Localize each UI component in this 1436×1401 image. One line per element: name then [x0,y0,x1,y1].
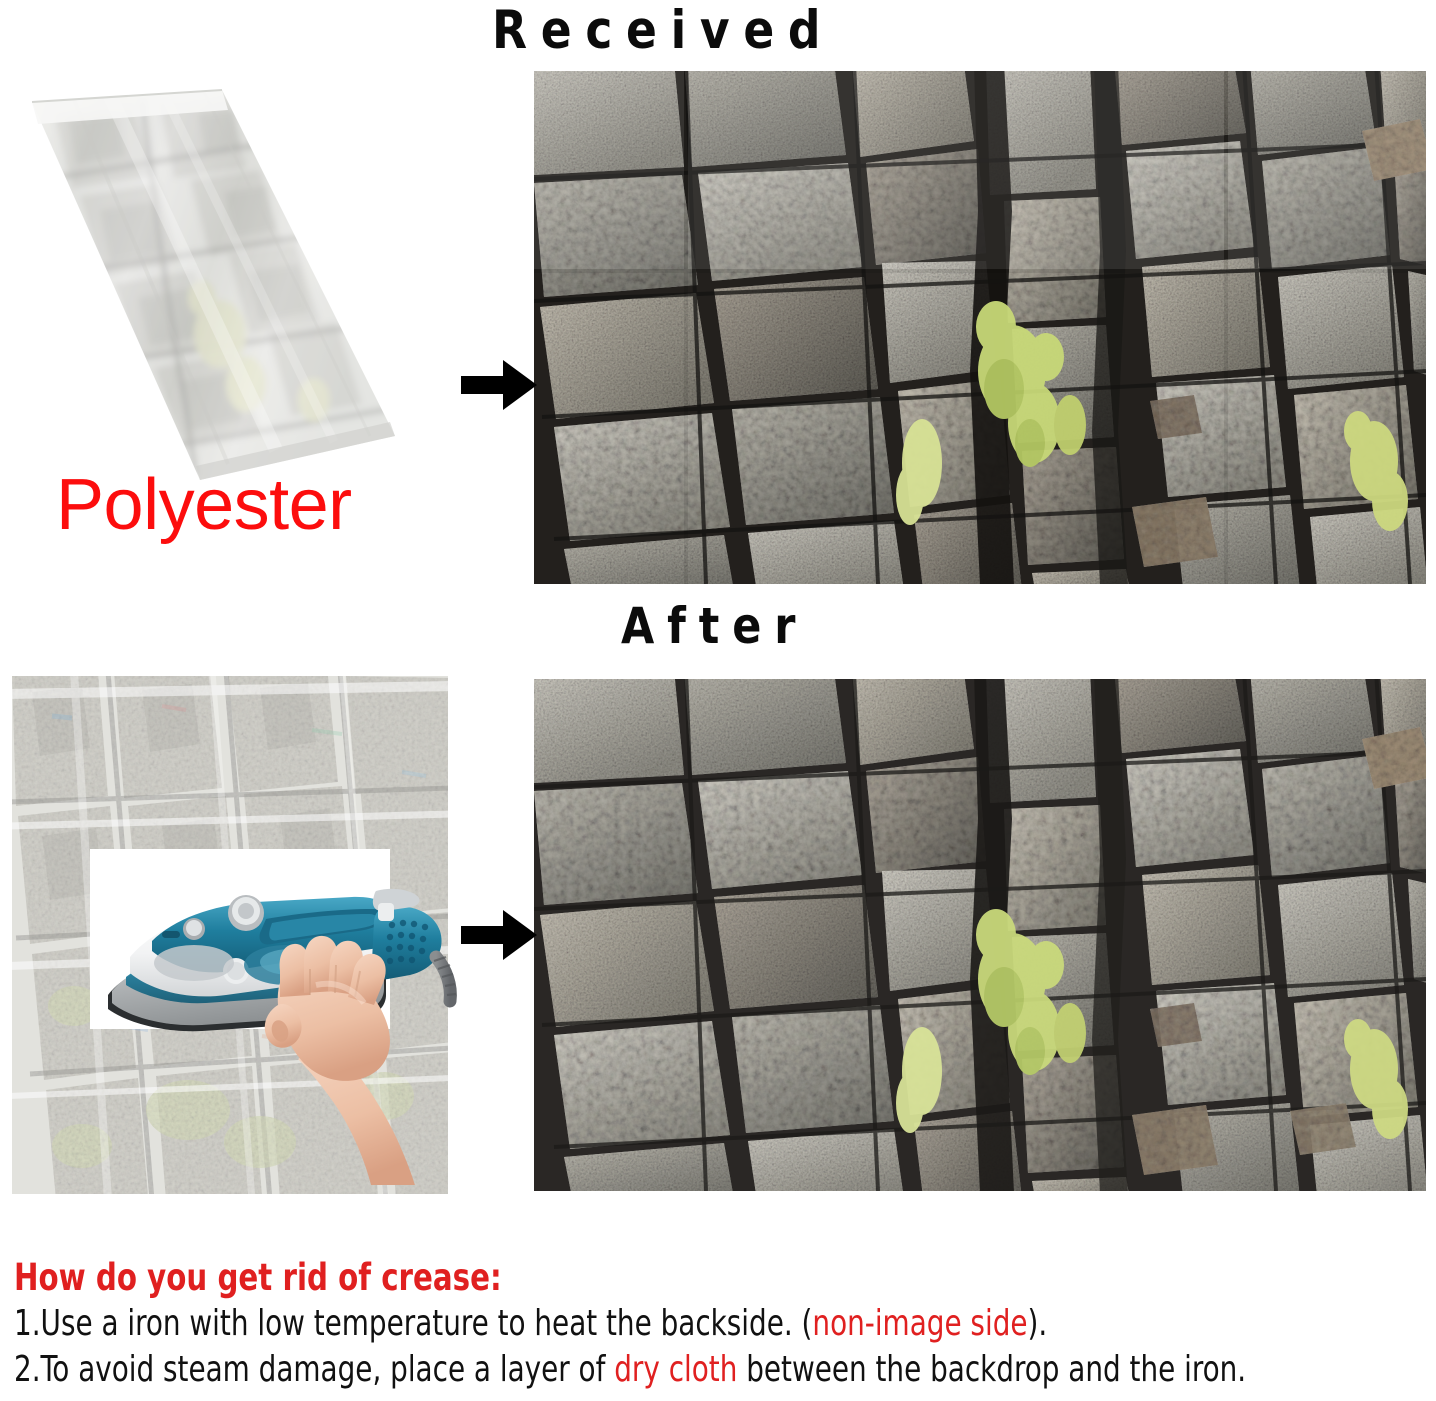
instruction-line-1-part1: 1.Use a iron with low temperature to hea… [14,1303,812,1344]
care-instructions: How do you get rid of crease: 1.Use a ir… [14,1256,1426,1392]
instruction-line-2-part1: 2.To avoid steam damage, place a layer o… [14,1349,614,1390]
received-backdrop-photo [534,71,1426,584]
heading-after: After [621,598,808,654]
instruction-line-1: 1.Use a iron with low temperature to hea… [14,1302,1228,1346]
steam-iron-with-hand-icon [90,845,460,1185]
instruction-line-1-part2: ). [1028,1303,1048,1344]
instruction-line-1-highlight: non-image side [812,1303,1027,1344]
right-arrow-icon [459,906,539,964]
heading-received: Received [492,2,834,60]
instruction-line-2: 2.To avoid steam damage, place a layer o… [14,1348,1228,1392]
polyester-material-label: Polyester [56,466,352,544]
instruction-line-2-highlight: dry cloth [614,1349,737,1390]
folded-polyester-fabric-image [14,84,412,490]
instructions-title: How do you get rid of crease: [14,1256,1257,1300]
right-arrow-icon [459,356,539,414]
instruction-line-2-part2: between the backdrop and the iron. [737,1349,1246,1390]
after-backdrop-photo [534,679,1426,1191]
